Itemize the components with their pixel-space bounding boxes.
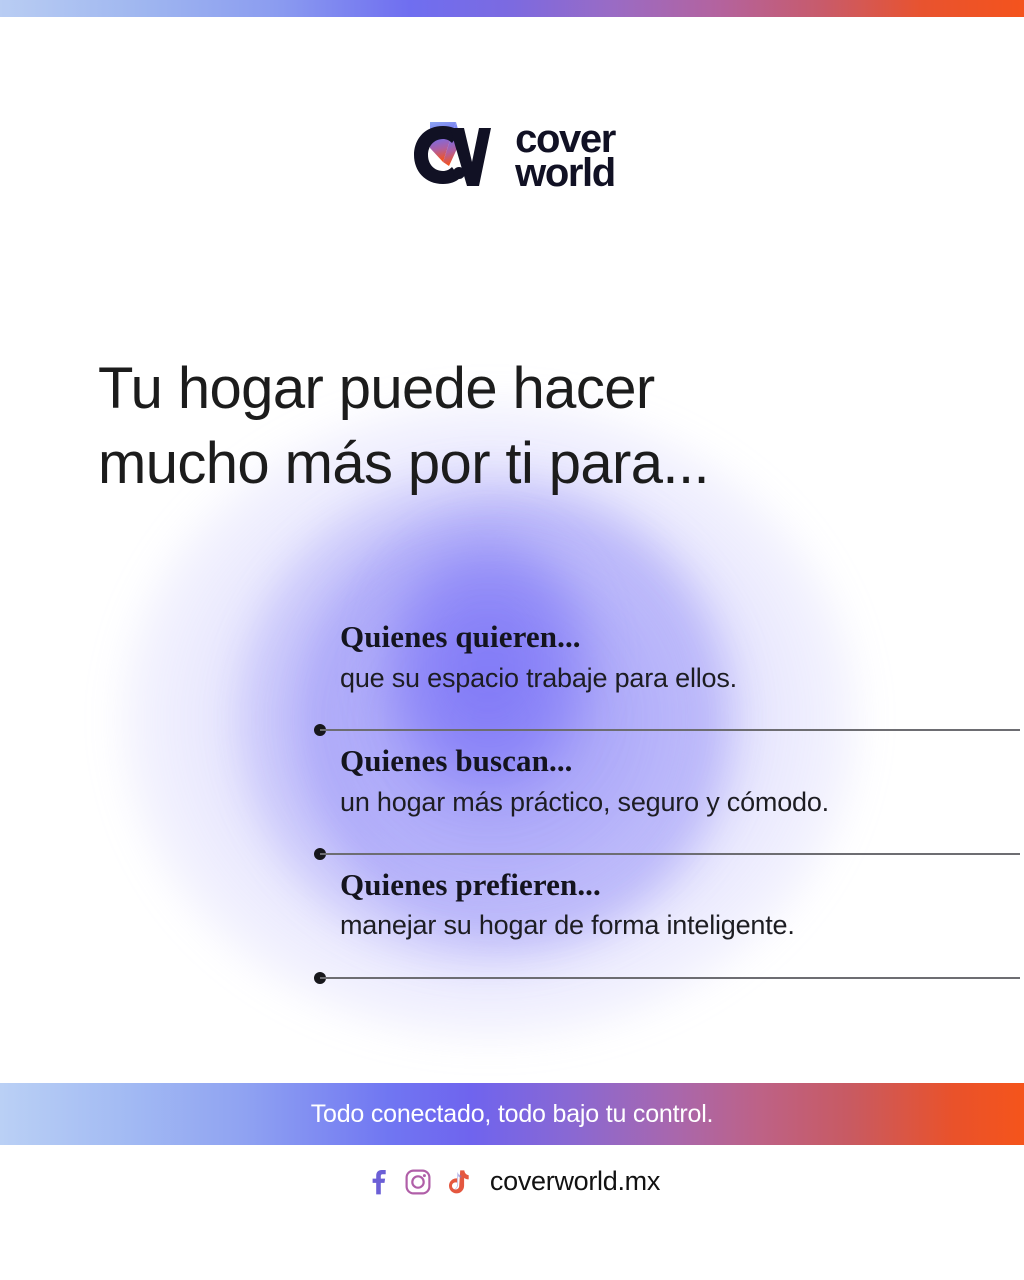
headline-line-2: mucho más por ti para... <box>98 426 928 501</box>
footer-tagline: Todo conectado, todo bajo tu control. <box>311 1100 714 1129</box>
list-item: Quienes quieren... que su espacio trabaj… <box>0 618 1024 710</box>
instagram-icon[interactable] <box>403 1167 433 1197</box>
divider-line <box>320 729 1020 731</box>
brand-logo: cover world <box>0 118 1024 195</box>
tiktok-icon[interactable] <box>442 1167 472 1197</box>
social-row: coverworld.mx <box>0 1166 1024 1197</box>
audience-title: Quienes buscan... <box>340 742 1024 781</box>
top-gradient-bar <box>0 0 1024 17</box>
divider <box>0 966 1024 990</box>
headline-line-1: Tu hogar puede hacer <box>98 351 928 426</box>
divider <box>0 718 1024 742</box>
list-item: Quienes buscan... un hogar más práctico,… <box>0 742 1024 834</box>
cw-monogram-icon <box>409 118 501 195</box>
website-url[interactable]: coverworld.mx <box>490 1166 660 1197</box>
footer-banner: Todo conectado, todo bajo tu control. <box>0 1083 1024 1145</box>
divider <box>0 842 1024 866</box>
list-item: Quienes prefieren... manejar su hogar de… <box>0 866 1024 958</box>
audience-description: manejar su hogar de forma inteligente. <box>340 908 1024 943</box>
audience-description: un hogar más práctico, seguro y cómodo. <box>340 785 1024 820</box>
audience-list: Quienes quieren... que su espacio trabaj… <box>0 618 1024 990</box>
audience-description: que su espacio trabaje para ellos. <box>340 661 1024 696</box>
logo-word-line2: world <box>515 157 615 191</box>
audience-title: Quienes quieren... <box>340 618 1024 657</box>
divider-line <box>320 977 1020 979</box>
page-title: Tu hogar puede hacer mucho más por ti pa… <box>98 351 928 502</box>
divider-line <box>320 853 1020 855</box>
facebook-icon[interactable] <box>364 1167 394 1197</box>
audience-title: Quienes prefieren... <box>340 866 1024 905</box>
poster-canvas: cover world Tu hogar puede hacer mucho m… <box>0 0 1024 1280</box>
